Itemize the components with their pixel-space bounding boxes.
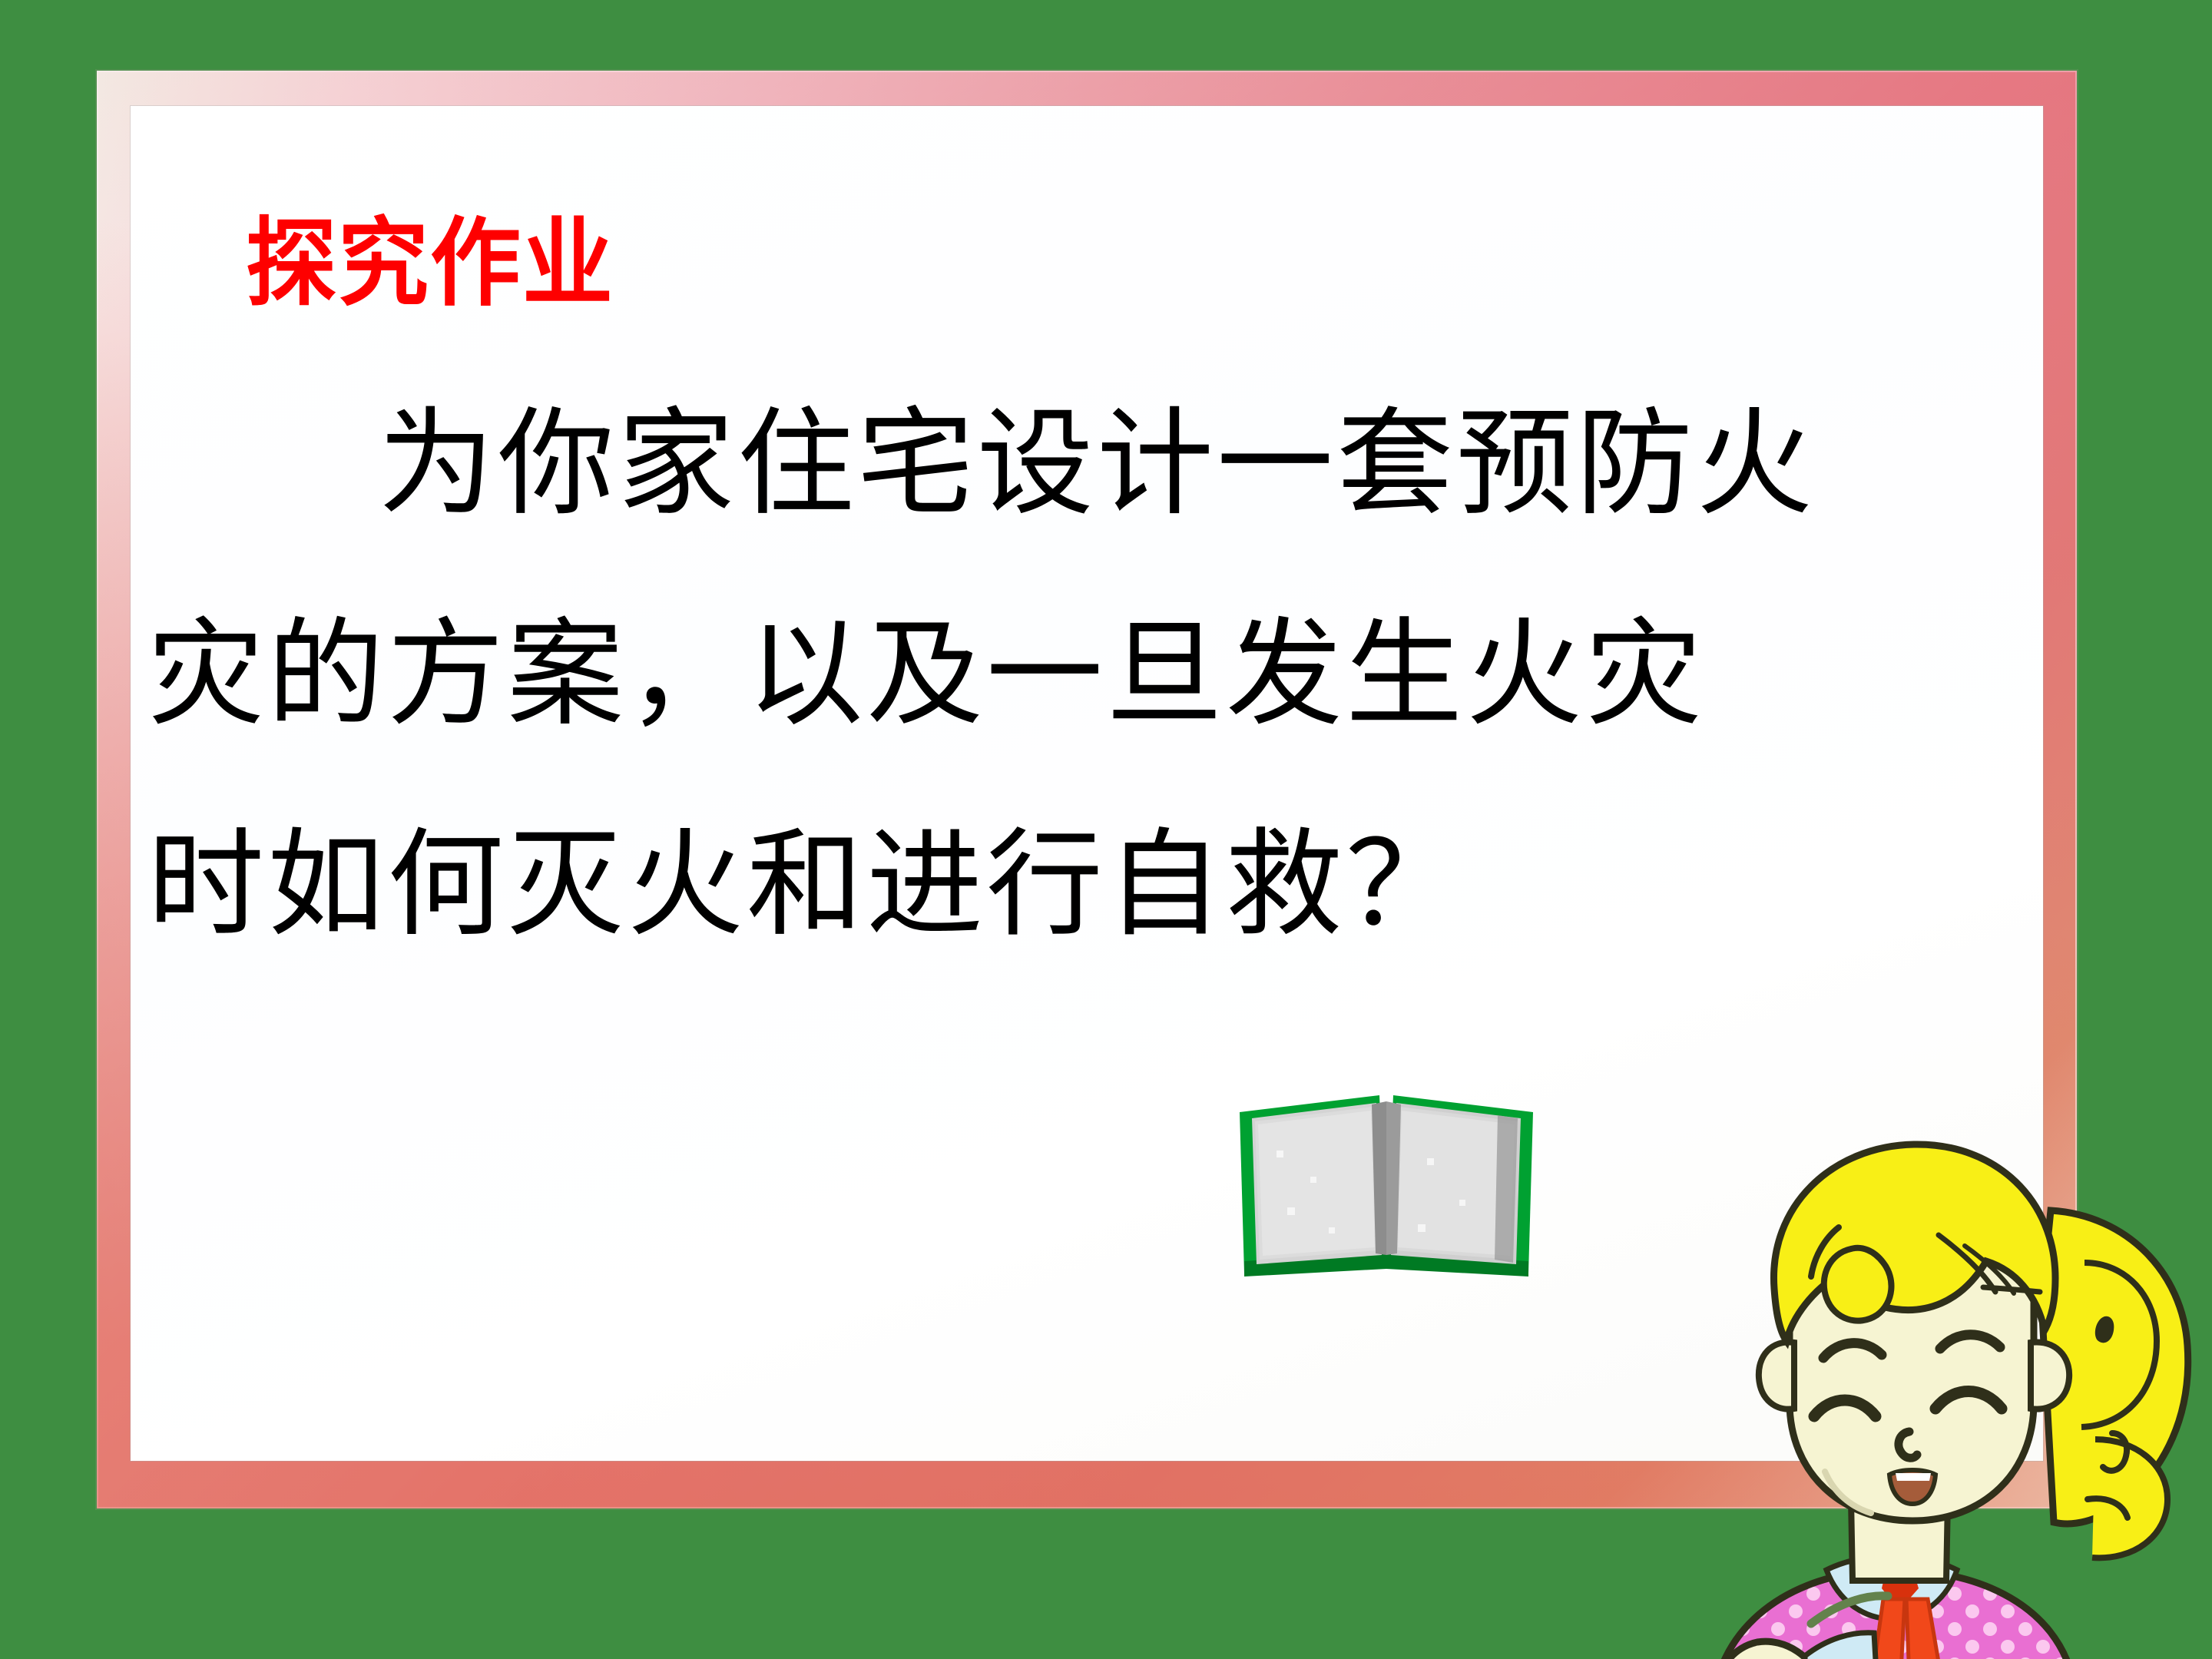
body-paragraph: 为你家住宅设计一套预防火 灾的方案，以及一旦发生火灾 时如何灭火和进行自救？: [147, 406, 2006, 943]
open-book-icon: [1237, 1084, 1536, 1307]
slide-canvas: 探究作业 为你家住宅设计一套预防火 灾的方案，以及一旦发生火灾 时如何灭火和进行…: [0, 0, 2212, 1659]
body-line-1: 为你家住宅设计一套预防火: [147, 406, 2006, 522]
slide-content-page: 探究作业 为你家住宅设计一套预防火 灾的方案，以及一旦发生火灾 时如何灭火和进行…: [131, 106, 2043, 1461]
body-line-2: 灾的方案，以及一旦发生火灾: [147, 616, 2006, 733]
decorative-picture-frame: 探究作业 为你家住宅设计一套预防火 灾的方案，以及一旦发生火灾 时如何灭火和进行…: [97, 71, 2077, 1508]
body-line-3: 时如何灭火和进行自救？: [147, 826, 2006, 943]
page-title: 探究作业: [246, 214, 614, 314]
title-block: 探究作业: [246, 123, 576, 353]
